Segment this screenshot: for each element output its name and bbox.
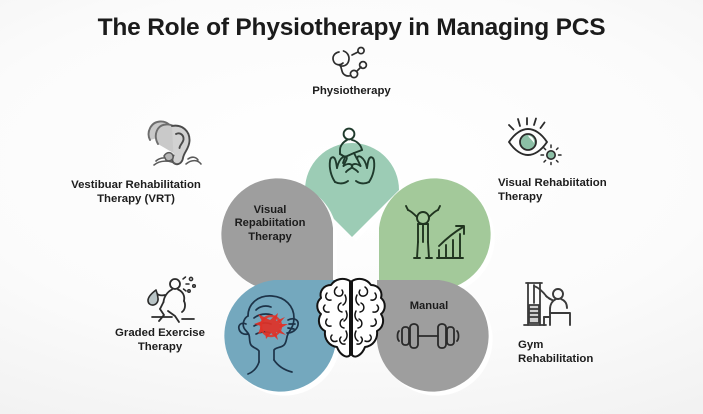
label-visual-rehabilitation-therapy: Visual Rehabiitation Therapy [498,176,668,204]
infographic-slide: The Role of Physiotherapy in Managing PC… [0,0,703,414]
label-gym-line1: Gym [518,338,678,352]
label-vestibular-rehabilitation-therapy: Vestibuar Rehabilitation Therapy (VRT) [56,178,216,206]
eye-vision-icon [506,117,564,174]
dizzy-nausea-person-icon [142,275,206,330]
petal-visual-rehabiitation-therapy[interactable] [373,168,491,286]
label-vrt-line2: Therapy (VRT) [56,192,216,206]
label-gym-line2: Rehabilitation [518,352,678,366]
petal-visual-repabiitation-therapy[interactable]: Visual Repabiitation Therapy [211,168,329,286]
label-visual-rehab-line1: Visual Rehabiitation [498,176,668,190]
label-gym-rehabilitation: Gym Rehabilitation [518,338,678,366]
page-title: The Role of Physiotherapy in Managing PC… [0,14,703,42]
gym-machine-seated-row-icon [520,277,582,338]
label-vrt-line1: Vestibuar Rehabilitation [56,178,216,192]
physiotherapy-stethoscope-icon [330,46,374,87]
ear-hearing-icon [142,118,204,177]
brain-icon [313,275,389,371]
label-visual-rehab-line2: Therapy [498,190,668,204]
